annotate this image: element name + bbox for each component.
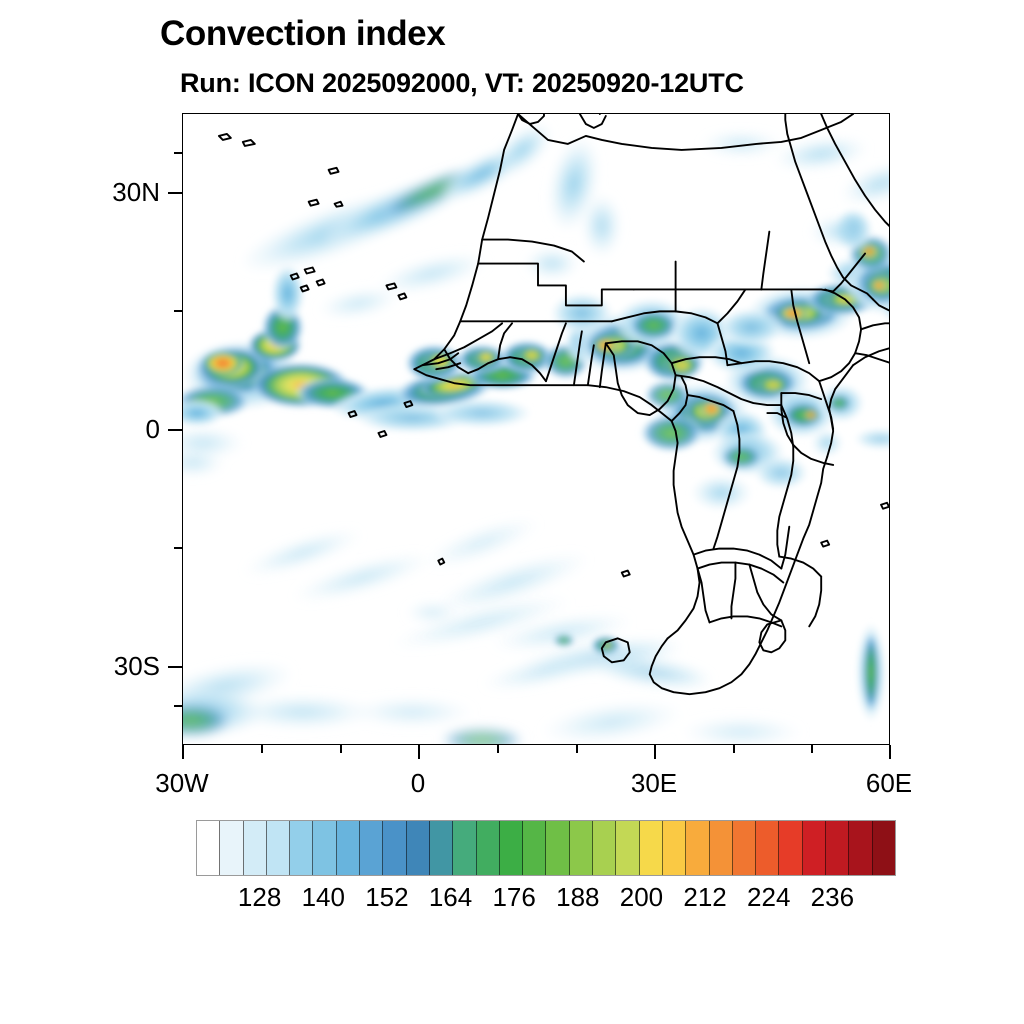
figure-subtitle: Run: ICON 2025092000, VT: 20250920-12UTC xyxy=(180,70,744,97)
x-tick-minor xyxy=(261,745,263,753)
page-title: Convection index xyxy=(160,16,445,51)
x-tick-minor xyxy=(497,745,499,753)
x-tick-minor xyxy=(340,745,342,753)
x-tick-minor xyxy=(733,745,735,753)
colorbar-cell xyxy=(523,821,546,875)
colorbar-tick-label: 164 xyxy=(429,884,472,910)
x-axis-label-30e: 30E xyxy=(594,770,714,796)
colorbar-cell xyxy=(407,821,430,875)
colorbar-tick-label: 236 xyxy=(811,884,854,910)
colorbar-cell xyxy=(756,821,779,875)
y-tick-0 xyxy=(168,429,182,431)
x-tick-minor xyxy=(811,745,813,753)
colorbar-cell xyxy=(710,821,733,875)
y-tick-minor xyxy=(174,547,182,549)
colorbar-cell xyxy=(733,821,756,875)
y-tick-30s xyxy=(168,666,182,668)
colorbar-cell xyxy=(663,821,686,875)
y-tick-30n xyxy=(168,192,182,194)
x-axis-label-60e: 60E xyxy=(829,770,949,796)
convection-index-figure: Convection index Run: ICON 2025092000, V… xyxy=(0,0,1024,1024)
colorbar-cell xyxy=(803,821,826,875)
y-tick-minor xyxy=(174,152,182,154)
x-tick-30e xyxy=(654,745,656,759)
colorbar-tick-label: 152 xyxy=(365,884,408,910)
colorbar-cell xyxy=(593,821,616,875)
colorbar-cell xyxy=(220,821,243,875)
x-tick-0 xyxy=(418,745,420,759)
x-axis-label-30w: 30W xyxy=(122,770,242,796)
colorbar-tick-label: 200 xyxy=(620,884,663,910)
x-tick-60e xyxy=(889,745,891,759)
colorbar-tick-label: 212 xyxy=(683,884,726,910)
colorbar-cell xyxy=(430,821,453,875)
y-tick-minor xyxy=(174,310,182,312)
map-canvas xyxy=(183,114,889,744)
colorbar-tick-label: 140 xyxy=(302,884,345,910)
y-axis-label-0: 0 xyxy=(48,416,160,442)
colorbar-cell xyxy=(500,821,523,875)
y-axis-label-30n: 30N xyxy=(48,179,160,205)
colorbar-cell xyxy=(290,821,313,875)
colorbar-cell xyxy=(267,821,290,875)
colorbar-tick-label: 224 xyxy=(747,884,790,910)
colorbar-cell xyxy=(244,821,267,875)
colorbar-cell xyxy=(197,821,220,875)
y-tick-minor xyxy=(174,705,182,707)
colorbar-cell xyxy=(570,821,593,875)
colorbar-cell xyxy=(546,821,569,875)
colorbar-cell xyxy=(477,821,500,875)
colorbar-cell xyxy=(383,821,406,875)
x-axis-label-0: 0 xyxy=(358,770,478,796)
y-axis-label-30s: 30S xyxy=(48,653,160,679)
colorbar-cell xyxy=(686,821,709,875)
colorbar-tick-label: 176 xyxy=(492,884,535,910)
colorbar-cell xyxy=(313,821,336,875)
colorbar-cell xyxy=(873,821,895,875)
colorbar-cell xyxy=(360,821,383,875)
colorbar-cell xyxy=(849,821,872,875)
x-tick-30w xyxy=(182,745,184,759)
colorbar-tick-labels: 128140152164176188200212224236 xyxy=(196,884,896,918)
colorbar-cell xyxy=(640,821,663,875)
colorbar-cell xyxy=(779,821,802,875)
colorbar-tick-label: 188 xyxy=(556,884,599,910)
colorbar-tick-label: 128 xyxy=(238,884,281,910)
colorbar-cell xyxy=(616,821,639,875)
map-plot-area[interactable] xyxy=(182,113,890,745)
colorbar-cell xyxy=(337,821,360,875)
colorbar-cell xyxy=(453,821,476,875)
x-tick-minor xyxy=(576,745,578,753)
colorbar-cell xyxy=(826,821,849,875)
colorbar[interactable] xyxy=(196,820,896,876)
